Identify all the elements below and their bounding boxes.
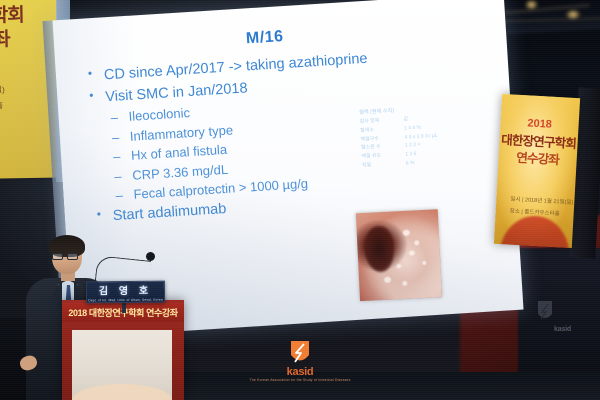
banner-right-year: 2018: [527, 117, 552, 130]
slide-bullet-list: CD since Apr/2017 -> taking azathioprine…: [85, 48, 395, 229]
endoscopy-lumen: [363, 226, 395, 273]
nameplate-stand: [122, 303, 126, 313]
eyeglasses-bridge: [63, 256, 68, 257]
lecture-hall-photo: 학회 좌 (일) 타홀 M/16 CD since Apr/2017 -> ta…: [0, 0, 600, 400]
slide-lab-table: 혈액 (현재 수치) 검사 항목 값 혈색소 1 4 4 % 백혈구수 4 3 …: [359, 103, 472, 170]
banner-left-detail2: 타홀: [0, 100, 3, 111]
lab-value: 1 2 6: [405, 150, 417, 159]
eyeglasses-icon: [67, 253, 78, 260]
kasid-leaf-icon: [289, 340, 311, 366]
bullet-text: Start adalimumab: [112, 201, 226, 224]
nameplate-name: 김 영 호: [99, 282, 152, 298]
bullet-text: Ileocolonic: [128, 105, 190, 124]
side-kasid-label: kasid: [554, 326, 571, 333]
microphone-icon: [146, 252, 155, 261]
side-kasid-logo: kasid: [536, 300, 582, 348]
lab-value: 4 3 x 1 0 3 / μL: [404, 131, 438, 141]
kasid-leaf-icon: [536, 300, 554, 322]
slide-title: M/16: [245, 28, 284, 48]
banner-right-detail1: 일시 | 2018년 1월 21일(일): [510, 195, 573, 207]
eyeglasses-icon: [52, 253, 63, 260]
banner-right-graphic: [499, 214, 572, 248]
banner-right-detail2: 장소 | 롤드카우스타홀: [510, 207, 560, 218]
podium-logo-sublabel: The Korean Association for the Study of …: [250, 378, 351, 382]
nameplate-affiliation: Dept. of Int. Med, Univ. of Ulsan, Seoul…: [88, 298, 163, 303]
banner-left-detail1: (일): [0, 84, 5, 95]
lab-key: 적혈: [362, 160, 396, 171]
banner-left-line2: 좌: [0, 24, 10, 51]
lab-value: 값: [403, 115, 408, 124]
podium-logo-label: kasid: [287, 366, 314, 378]
endoscopy-image: [356, 209, 442, 301]
lab-value: 6 %: [406, 159, 415, 168]
banner-right-line2: 연수강좌: [516, 147, 560, 168]
banner-right: 2018 대한장연구학회 연수강좌 일시 | 2018년 1월 21일(일) 장…: [494, 94, 580, 248]
nameplate-display: 김 영 호 Dept. of Int. Med, Univ. of Ulsan,…: [86, 281, 165, 304]
